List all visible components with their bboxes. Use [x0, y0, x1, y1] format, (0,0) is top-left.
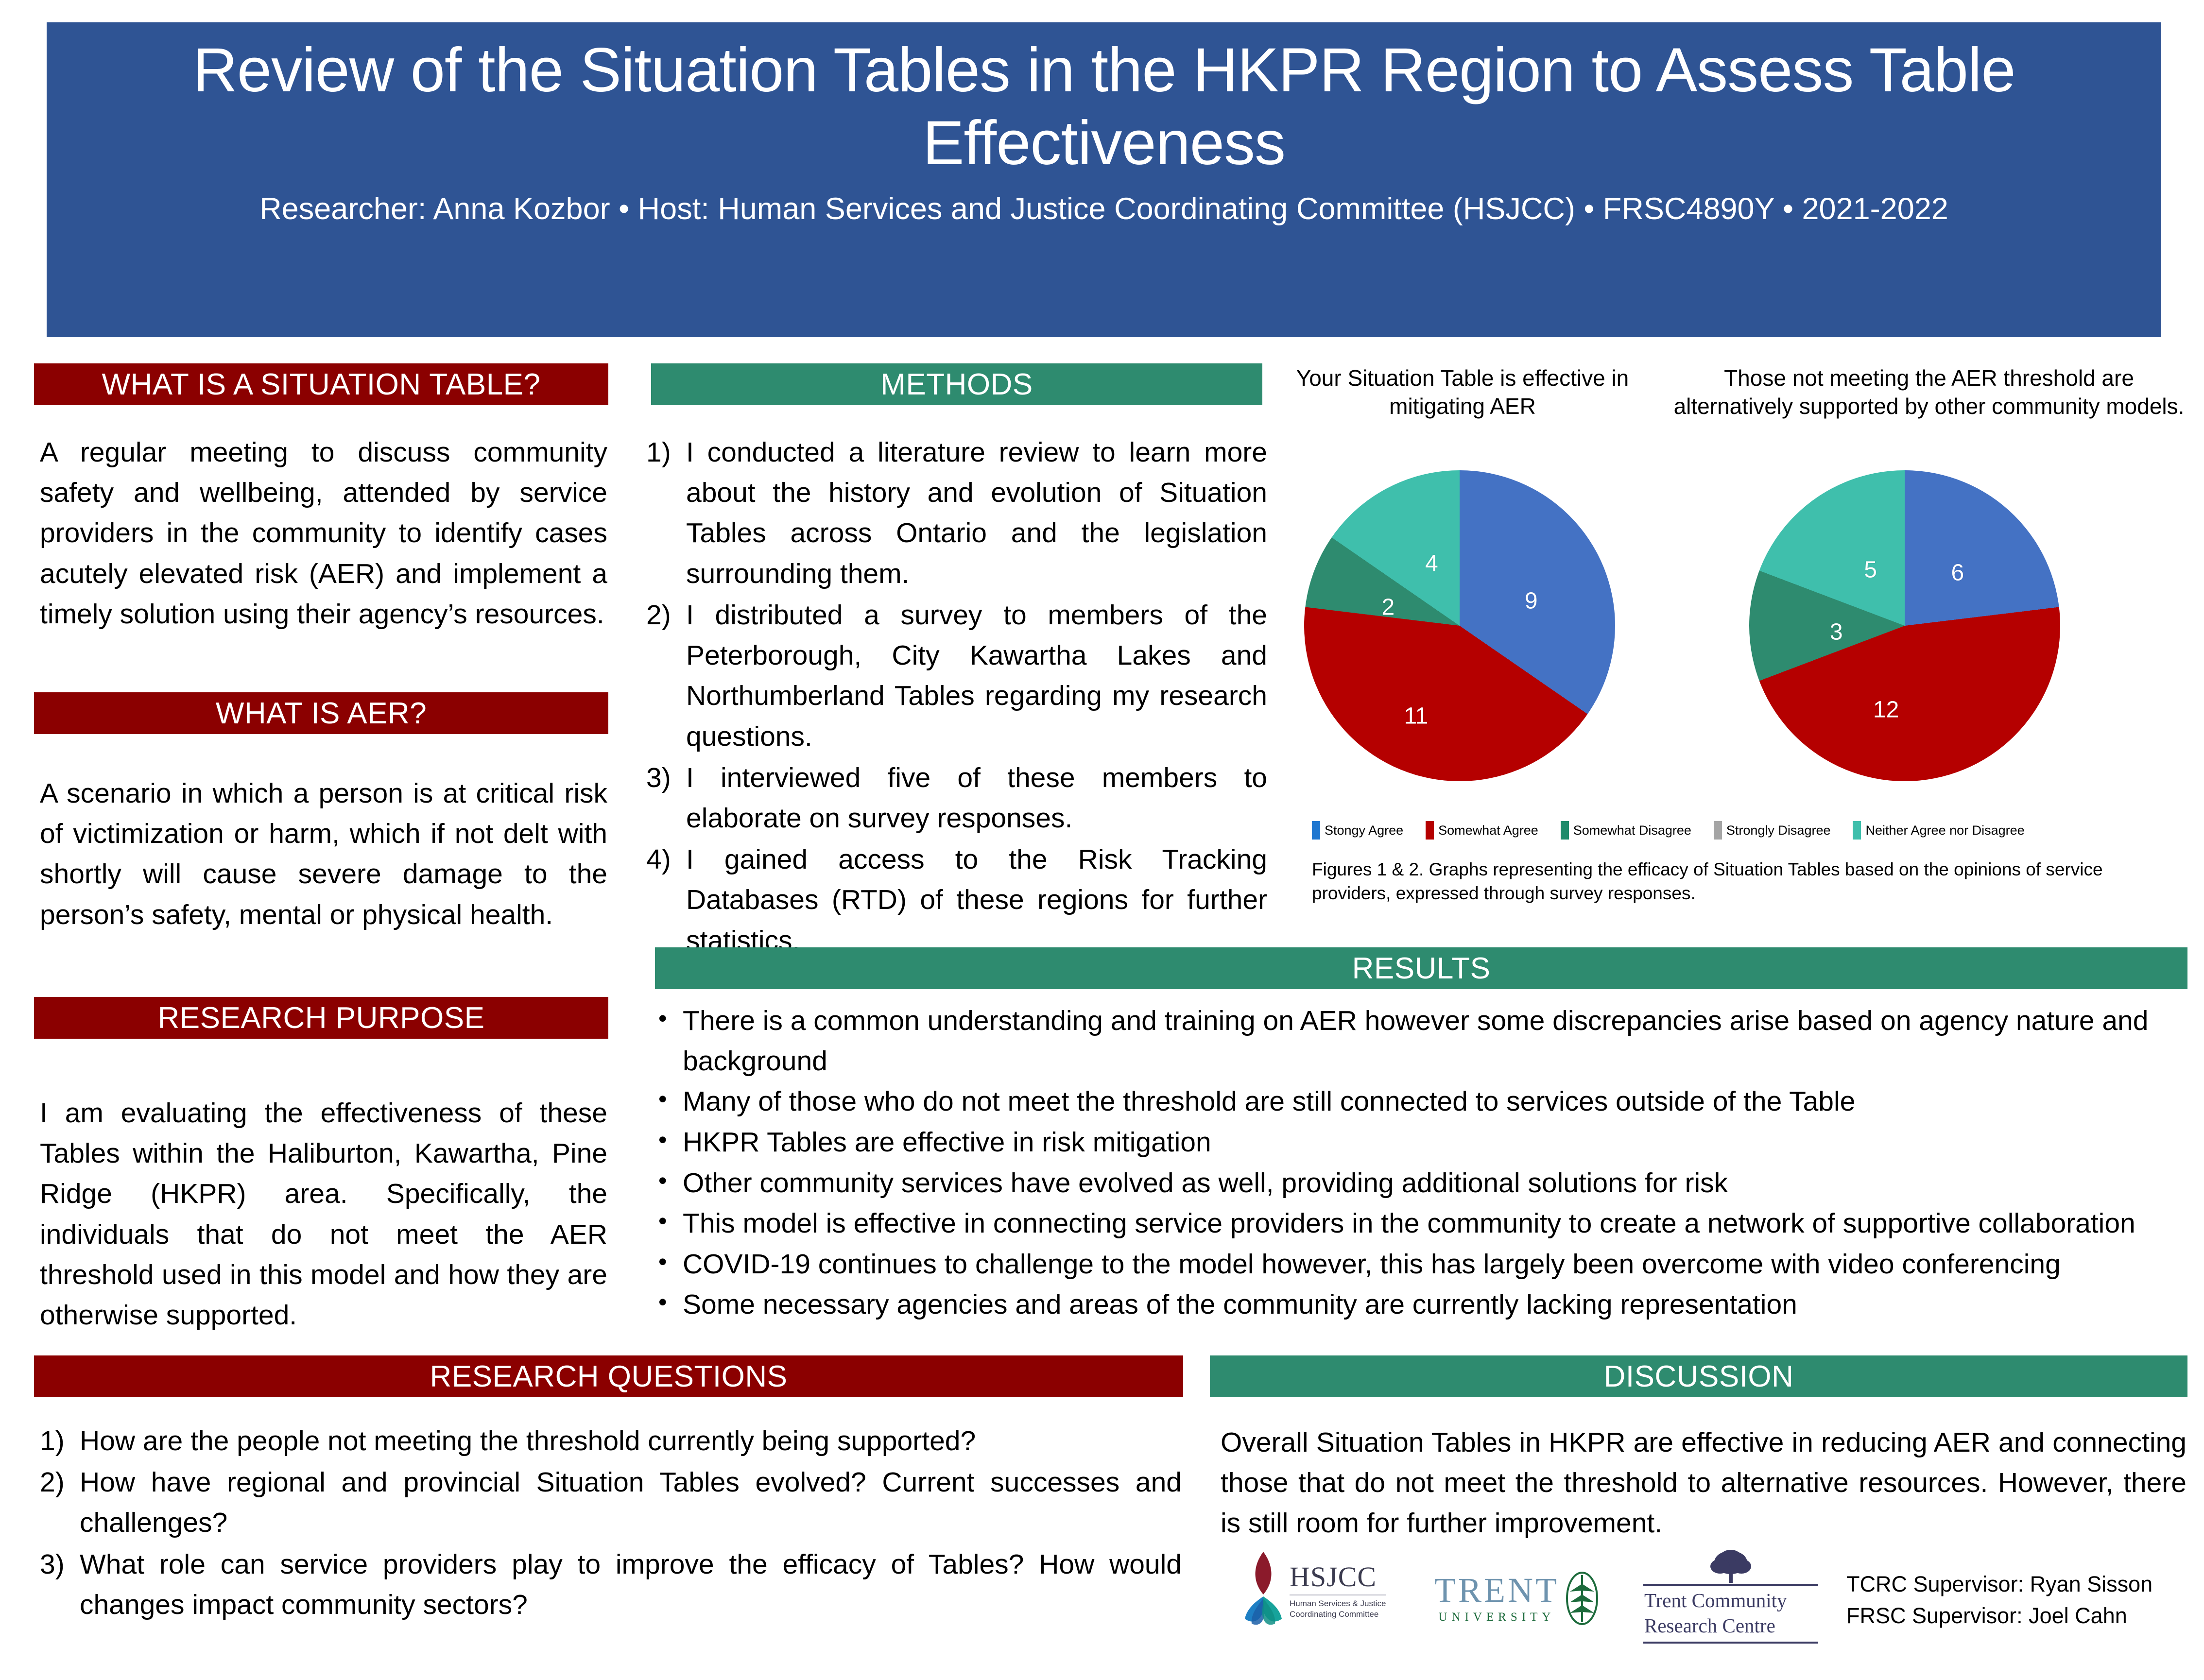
legend-label: Strongly Disagree	[1726, 823, 1831, 838]
list-text: What role can service providers play to …	[80, 1544, 1182, 1625]
section-heading-what-is-aer: WHAT IS AER?	[34, 692, 608, 734]
list-marker: 3)	[40, 1544, 80, 1625]
list-text: There is a common understanding and trai…	[683, 1001, 2189, 1081]
list-text: COVID-19 continues to challenge to the m…	[683, 1244, 2189, 1285]
figure-caption: Figures 1 & 2. Graphs representing the e…	[1312, 857, 2182, 905]
heading-label: WHAT IS A SITUATION TABLE?	[102, 367, 540, 402]
list-marker: 2)	[40, 1462, 80, 1543]
pie-slice-label-blue: 9	[1525, 587, 1538, 614]
list-marker: 1)	[40, 1421, 80, 1461]
bullet-icon: •	[658, 1244, 683, 1285]
list-text: HKPR Tables are effective in risk mitiga…	[683, 1122, 2189, 1163]
list-item: • Other community services have evolved …	[658, 1163, 2189, 1203]
list-item: • This model is effective in connecting …	[658, 1203, 2189, 1244]
legend-label: Somewhat Disagree	[1573, 823, 1691, 838]
list-item: • There is a common understanding and tr…	[658, 1001, 2189, 1081]
poster-header: Review of the Situation Tables in the HK…	[47, 22, 2161, 337]
section-heading-discussion: DISCUSSION	[1210, 1355, 2187, 1397]
list-text: I distributed a survey to members of the…	[686, 595, 1267, 757]
list-text: I interviewed five of these members to e…	[686, 758, 1267, 839]
header-subtitle: Researcher: Anna Kozbor • Host: Human Se…	[259, 192, 1948, 226]
list-text: Many of those who do not meet the thresh…	[683, 1081, 2189, 1122]
hsjcc-mark-icon	[1240, 1550, 1287, 1632]
list-text: How are the people not meeting the thres…	[80, 1421, 1182, 1461]
legend-item-neither-agree-nor-disagree: Neither Agree nor Disagree	[1853, 821, 2024, 840]
pie-slice-label-red: 12	[1873, 696, 1899, 723]
legend-swatch-icon	[1714, 821, 1722, 840]
tcrc-line-1: Trent Community	[1643, 1586, 1818, 1614]
list-item: • HKPR Tables are effective in risk miti…	[658, 1122, 2189, 1163]
list-marker: 2)	[646, 595, 686, 757]
divider-bottom	[1643, 1642, 1818, 1644]
section-heading-research-purpose: RESEARCH PURPOSE	[34, 997, 608, 1039]
list-marker: 1)	[646, 432, 686, 594]
pie-chart-alternatively-supported: 6 12 3 5	[1749, 470, 2060, 781]
pie-chart-effective-mitigating-aer: 9 11 2 4	[1304, 470, 1615, 781]
legend-swatch-icon	[1561, 821, 1569, 840]
pie-slice-label-teal: 5	[1864, 556, 1877, 583]
research-questions-list: 1) How are the people not meeting the th…	[40, 1421, 1182, 1626]
trent-leaf-icon	[1562, 1571, 1602, 1626]
list-item: 1) I conducted a literature review to le…	[646, 432, 1267, 594]
legend-label: Neither Agree nor Disagree	[1865, 823, 2024, 838]
list-text: Some necessary agencies and areas of the…	[683, 1285, 2189, 1325]
discussion-body: Overall Situation Tables in HKPR are eff…	[1221, 1423, 2187, 1544]
section-heading-results: RESULTS	[655, 947, 2187, 989]
legend-item-somewhat-disagree: Somewhat Disagree	[1561, 821, 1691, 840]
tcrc-supervisor: TCRC Supervisor: Ryan Sisson	[1846, 1568, 2152, 1600]
frsc-supervisor: FRSC Supervisor: Joel Cahn	[1846, 1600, 2152, 1631]
chart-1-title: Your Situation Table is effective in mit…	[1292, 364, 1633, 421]
bullet-icon: •	[658, 1203, 683, 1244]
legend-label: Somewhat Agree	[1438, 823, 1538, 838]
tree-icon	[1702, 1550, 1760, 1584]
legend-swatch-icon	[1426, 821, 1434, 840]
section-heading-research-questions: RESEARCH QUESTIONS	[34, 1355, 1183, 1397]
heading-label: DISCUSSION	[1604, 1359, 1794, 1394]
research-purpose-body: I am evaluating the effectiveness of the…	[40, 1093, 607, 1336]
bullet-icon: •	[658, 1285, 683, 1325]
what-is-a-situation-table-body: A regular meeting to discuss community s…	[40, 432, 607, 634]
bullet-icon: •	[658, 1001, 683, 1081]
heading-label: RESEARCH QUESTIONS	[430, 1359, 788, 1394]
methods-list: 1) I conducted a literature review to le…	[646, 432, 1267, 962]
legend-item-somewhat-agree: Somewhat Agree	[1426, 821, 1538, 840]
hsjcc-subtitle-line-2: Coordinating Committee	[1290, 1609, 1386, 1619]
list-text: How have regional and provincial Situati…	[80, 1462, 1182, 1543]
trent-subtitle: UNIVERSITY	[1434, 1611, 1559, 1624]
bullet-icon: •	[658, 1163, 683, 1203]
page-title: Review of the Situation Tables in the HK…	[132, 34, 2076, 180]
section-heading-methods: METHODS	[651, 363, 1262, 405]
list-item: 2) How have regional and provincial Situ…	[40, 1462, 1182, 1543]
legend-item-strongly-disagree: Strongly Disagree	[1714, 821, 1831, 840]
list-text: This model is effective in connecting se…	[683, 1203, 2189, 1244]
bullet-icon: •	[658, 1122, 683, 1163]
hsjcc-wordmark: HSJCC Human Services & Justice Coordinat…	[1290, 1563, 1386, 1619]
heading-label: METHODS	[880, 367, 1033, 402]
trent-wordmark: TRENT	[1434, 1573, 1559, 1608]
logo-row: HSJCC Human Services & Justice Coordinat…	[1240, 1550, 1823, 1644]
pie-slice-label-red: 11	[1404, 703, 1428, 729]
pie-slice-label-dark-green: 2	[1381, 594, 1395, 620]
list-item: 4) I gained access to the Risk Tracking …	[646, 840, 1267, 961]
legend-item-stongy-agree: Stongy Agree	[1312, 821, 1403, 840]
list-item: 1) How are the people not meeting the th…	[40, 1421, 1182, 1461]
trent-community-research-centre-logo: Trent Community Research Centre	[1643, 1550, 1823, 1644]
list-item: 3) I interviewed five of these members t…	[646, 758, 1267, 839]
supervisor-credits: TCRC Supervisor: Ryan Sisson FRSC Superv…	[1846, 1568, 2152, 1632]
list-text: I gained access to the Risk Tracking Dat…	[686, 840, 1267, 961]
legend-label: Stongy Agree	[1325, 823, 1403, 838]
poster-canvas: Review of the Situation Tables in the HK…	[0, 0, 2204, 1680]
results-list: • There is a common understanding and tr…	[658, 1001, 2189, 1325]
hsjcc-acronym: HSJCC	[1290, 1563, 1386, 1591]
list-text: Other community services have evolved as…	[683, 1163, 2189, 1203]
pie-slice-label-blue: 6	[1951, 560, 1964, 586]
trent-university-logo: TRENT UNIVERSITY	[1434, 1550, 1643, 1626]
pie-slice-label-dark-green: 3	[1830, 618, 1843, 645]
what-is-aer-body: A scenario in which a person is at criti…	[40, 773, 607, 935]
hsjcc-logo: HSJCC Human Services & Justice Coordinat…	[1240, 1550, 1434, 1632]
heading-label: RESEARCH PURPOSE	[158, 1001, 485, 1035]
heading-label: WHAT IS AER?	[216, 696, 427, 731]
pie-slice-label-teal: 4	[1425, 550, 1438, 577]
legend-swatch-icon	[1312, 821, 1320, 840]
chart-legend: Stongy Agree Somewhat Agree Somewhat Dis…	[1312, 821, 2047, 840]
section-heading-what-is-a-situation-table: WHAT IS A SITUATION TABLE?	[34, 363, 608, 405]
list-text: I conducted a literature review to learn…	[686, 432, 1267, 594]
list-item: 2) I distributed a survey to members of …	[646, 595, 1267, 757]
list-marker: 4)	[646, 840, 686, 961]
list-marker: 3)	[646, 758, 686, 839]
tcrc-line-2: Research Centre	[1643, 1614, 1818, 1641]
hsjcc-subtitle-line-1: Human Services & Justice	[1290, 1598, 1386, 1609]
list-item: • Some necessary agencies and areas of t…	[658, 1285, 2189, 1325]
legend-swatch-icon	[1853, 821, 1861, 840]
list-item: • Many of those who do not meet the thre…	[658, 1081, 2189, 1122]
bullet-icon: •	[658, 1081, 683, 1122]
chart-2-title: Those not meeting the AER threshold are …	[1671, 364, 2187, 421]
list-item: • COVID-19 continues to challenge to the…	[658, 1244, 2189, 1285]
heading-label: RESULTS	[1352, 951, 1491, 986]
list-item: 3) What role can service providers play …	[40, 1544, 1182, 1625]
divider	[1290, 1594, 1386, 1595]
